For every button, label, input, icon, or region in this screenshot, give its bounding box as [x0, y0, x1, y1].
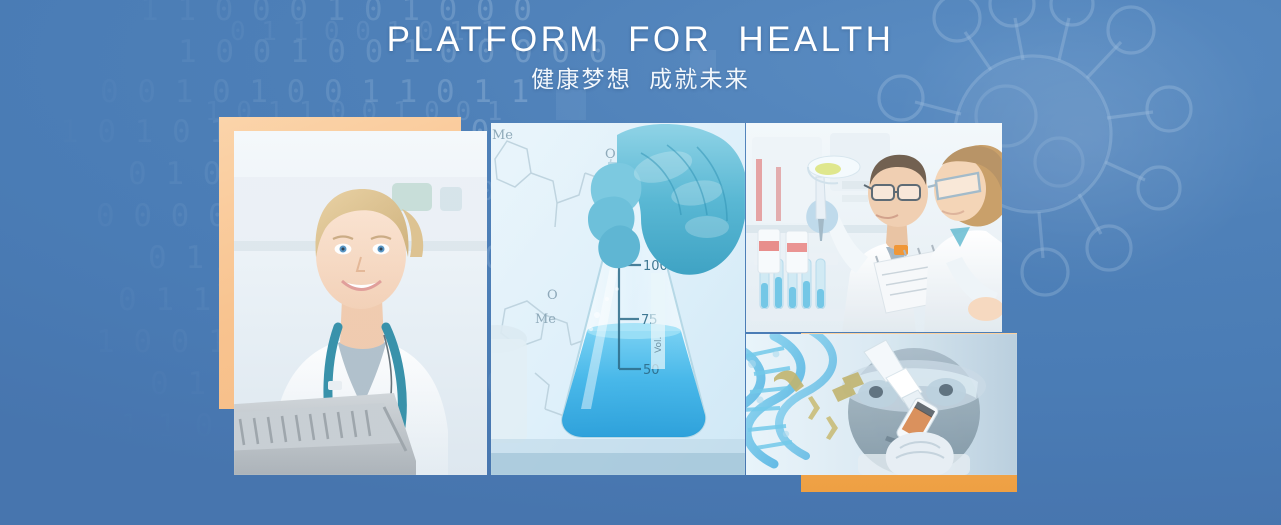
page-title: PLATFORM FOR HEALTH: [0, 22, 1281, 57]
photo-erlenmeyer-flask: Me Me O O OH: [491, 123, 745, 475]
svg-text:Me: Me: [535, 312, 556, 327]
page-subtitle: 健康梦想 成就未来: [0, 68, 1281, 91]
photo-lab-researchers: [746, 123, 1002, 332]
photo-smiling-doctor: [234, 131, 487, 475]
svg-text:O: O: [605, 147, 616, 162]
banner-heading-block: PLATFORM FOR HEALTH 健康梦想 成就未来: [0, 22, 1281, 91]
svg-text:O: O: [547, 288, 558, 303]
svg-text:Me: Me: [492, 128, 513, 143]
photo-dna-sample: [746, 334, 1017, 475]
health-platform-banner: 1 1 0 0 0 1 0 1 0 0 0 1 0 0 1 0 0 1 0 0 …: [0, 0, 1281, 525]
svg-text:Vol.: Vol.: [654, 337, 664, 353]
